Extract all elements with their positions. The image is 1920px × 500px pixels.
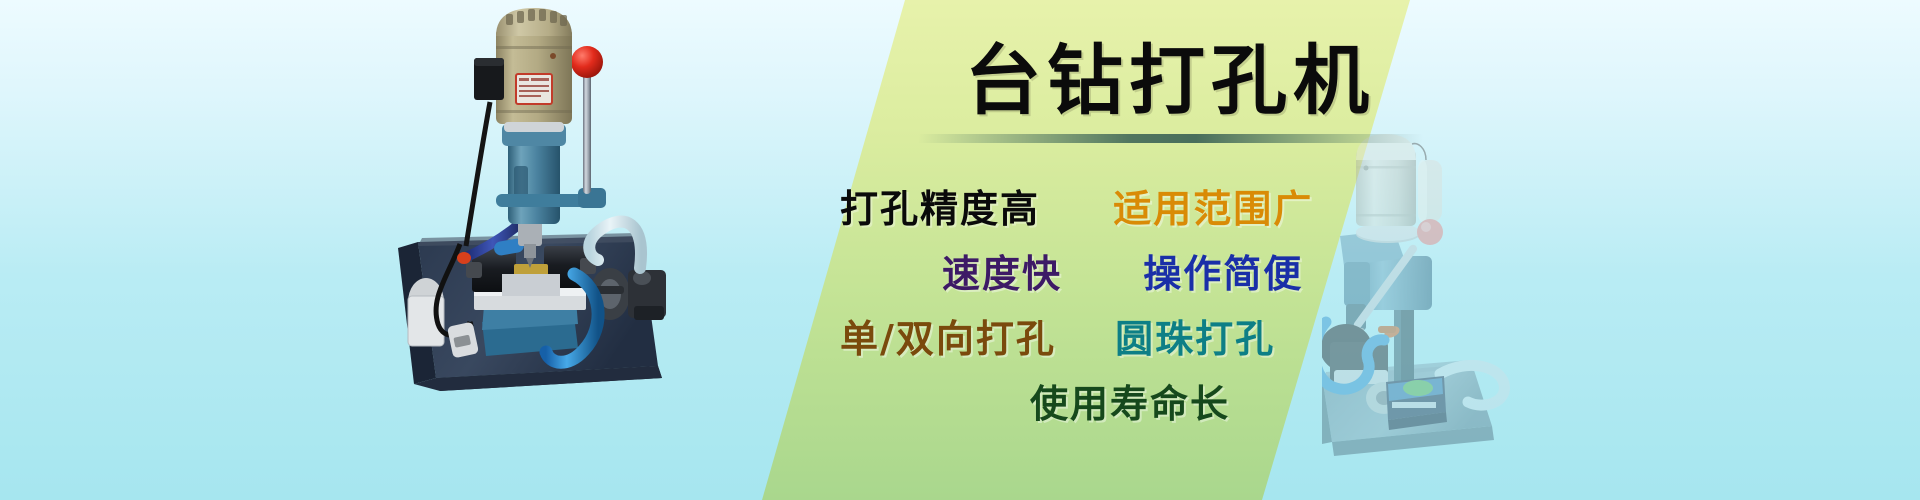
feature-label-precision: 打孔精度高 <box>840 178 1040 233</box>
feature-label-speed: 速度快 <box>942 243 1062 298</box>
feature-label-range: 适用范围广 <box>1113 178 1313 233</box>
feature-row-1: 打孔精度高 适用范围广 <box>840 178 1480 233</box>
feature-label-direction: 单/双向打孔 <box>840 308 1056 363</box>
left-machine-photo <box>378 6 678 426</box>
title-divider <box>918 134 1423 143</box>
product-banner: 台钻打孔机 打孔精度高 适用范围广 速度快 操作简便 单/双向打孔 圆珠打孔 使… <box>0 0 1920 500</box>
title-block: 台钻打孔机 <box>860 40 1480 143</box>
feature-row-4: 使用寿命长 <box>840 373 1480 428</box>
feature-row-3: 单/双向打孔 圆珠打孔 <box>840 308 1480 363</box>
feature-label-lifespan: 使用寿命长 <box>1030 373 1230 428</box>
feature-label-bead: 圆珠打孔 <box>1115 308 1275 363</box>
feature-label-operation: 操作简便 <box>1143 243 1303 298</box>
page-title: 台钻打孔机 <box>860 40 1480 122</box>
feature-row-2: 速度快 操作简便 <box>840 243 1480 298</box>
